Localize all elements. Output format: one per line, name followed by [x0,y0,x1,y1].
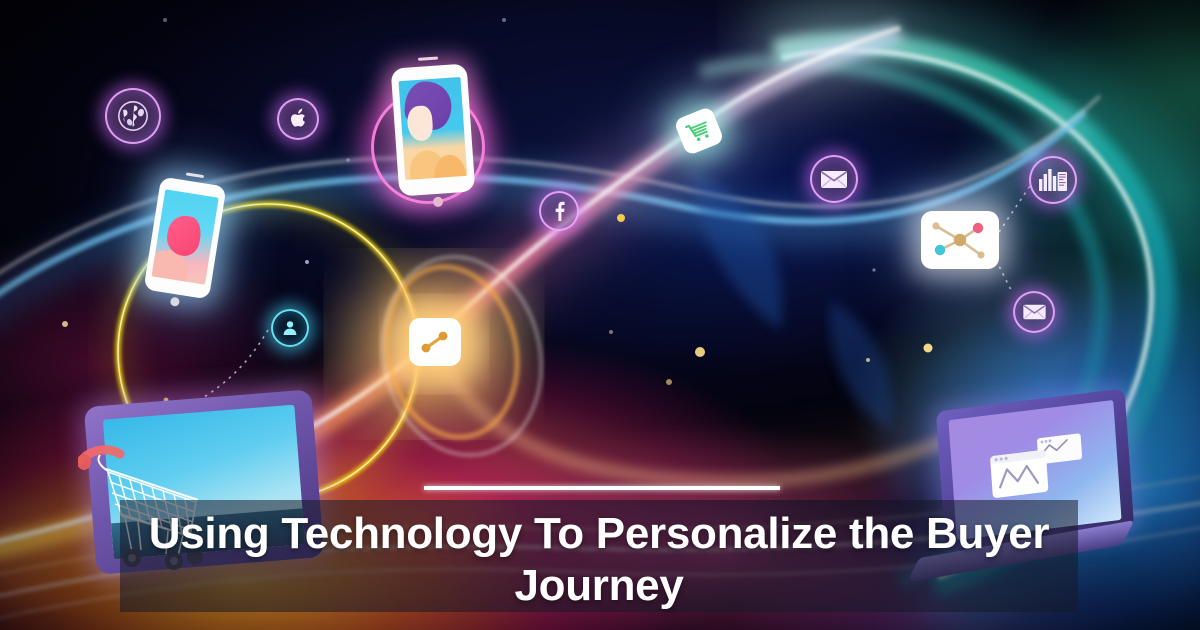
title-overlay-band: Using Technology To Personalize the Buye… [120,500,1078,612]
smartphone-home-button [170,297,180,307]
bar-chart-glyph [1038,167,1068,193]
share-network-card[interactable] [409,318,461,366]
apple-glyph [287,107,309,131]
globe-glyph [116,99,150,133]
bar-chart-icon[interactable] [1029,156,1077,204]
network-graph-card[interactable] [921,211,999,269]
envelope-icon[interactable] [810,155,858,203]
smartphone-speaker [418,56,438,60]
smartphone-screen [399,77,468,180]
smartphone-home-button [433,196,444,207]
dotted-connector-lines [196,183,1032,402]
hero-banner: Using Technology To Personalize the Buye… [0,0,1200,630]
title-divider-rule [424,486,780,490]
envelope-glyph [820,169,848,190]
envelope-icon[interactable] [1013,291,1055,333]
user-glyph [280,318,300,338]
share-icon [419,328,451,356]
smartphone-screen [152,189,219,284]
smartphone-body [143,177,226,300]
globe-icon[interactable] [105,88,161,144]
smartphone-device[interactable] [152,181,218,295]
user-profile-icon[interactable] [271,309,309,347]
screen-face-shape [406,105,433,142]
smartphone-speaker [186,172,204,178]
facebook-icon[interactable] [539,191,579,231]
shopping-cart-card[interactable] [673,106,724,156]
apple-icon[interactable] [277,98,319,140]
smartphone-device[interactable] [391,64,476,197]
envelope-glyph [1022,303,1047,321]
page-title: Using Technology To Personalize the Buye… [120,500,1078,612]
facebook-f-glyph [549,200,569,222]
shopping-cart-icon [684,116,714,145]
network-graph-icon [928,217,992,263]
